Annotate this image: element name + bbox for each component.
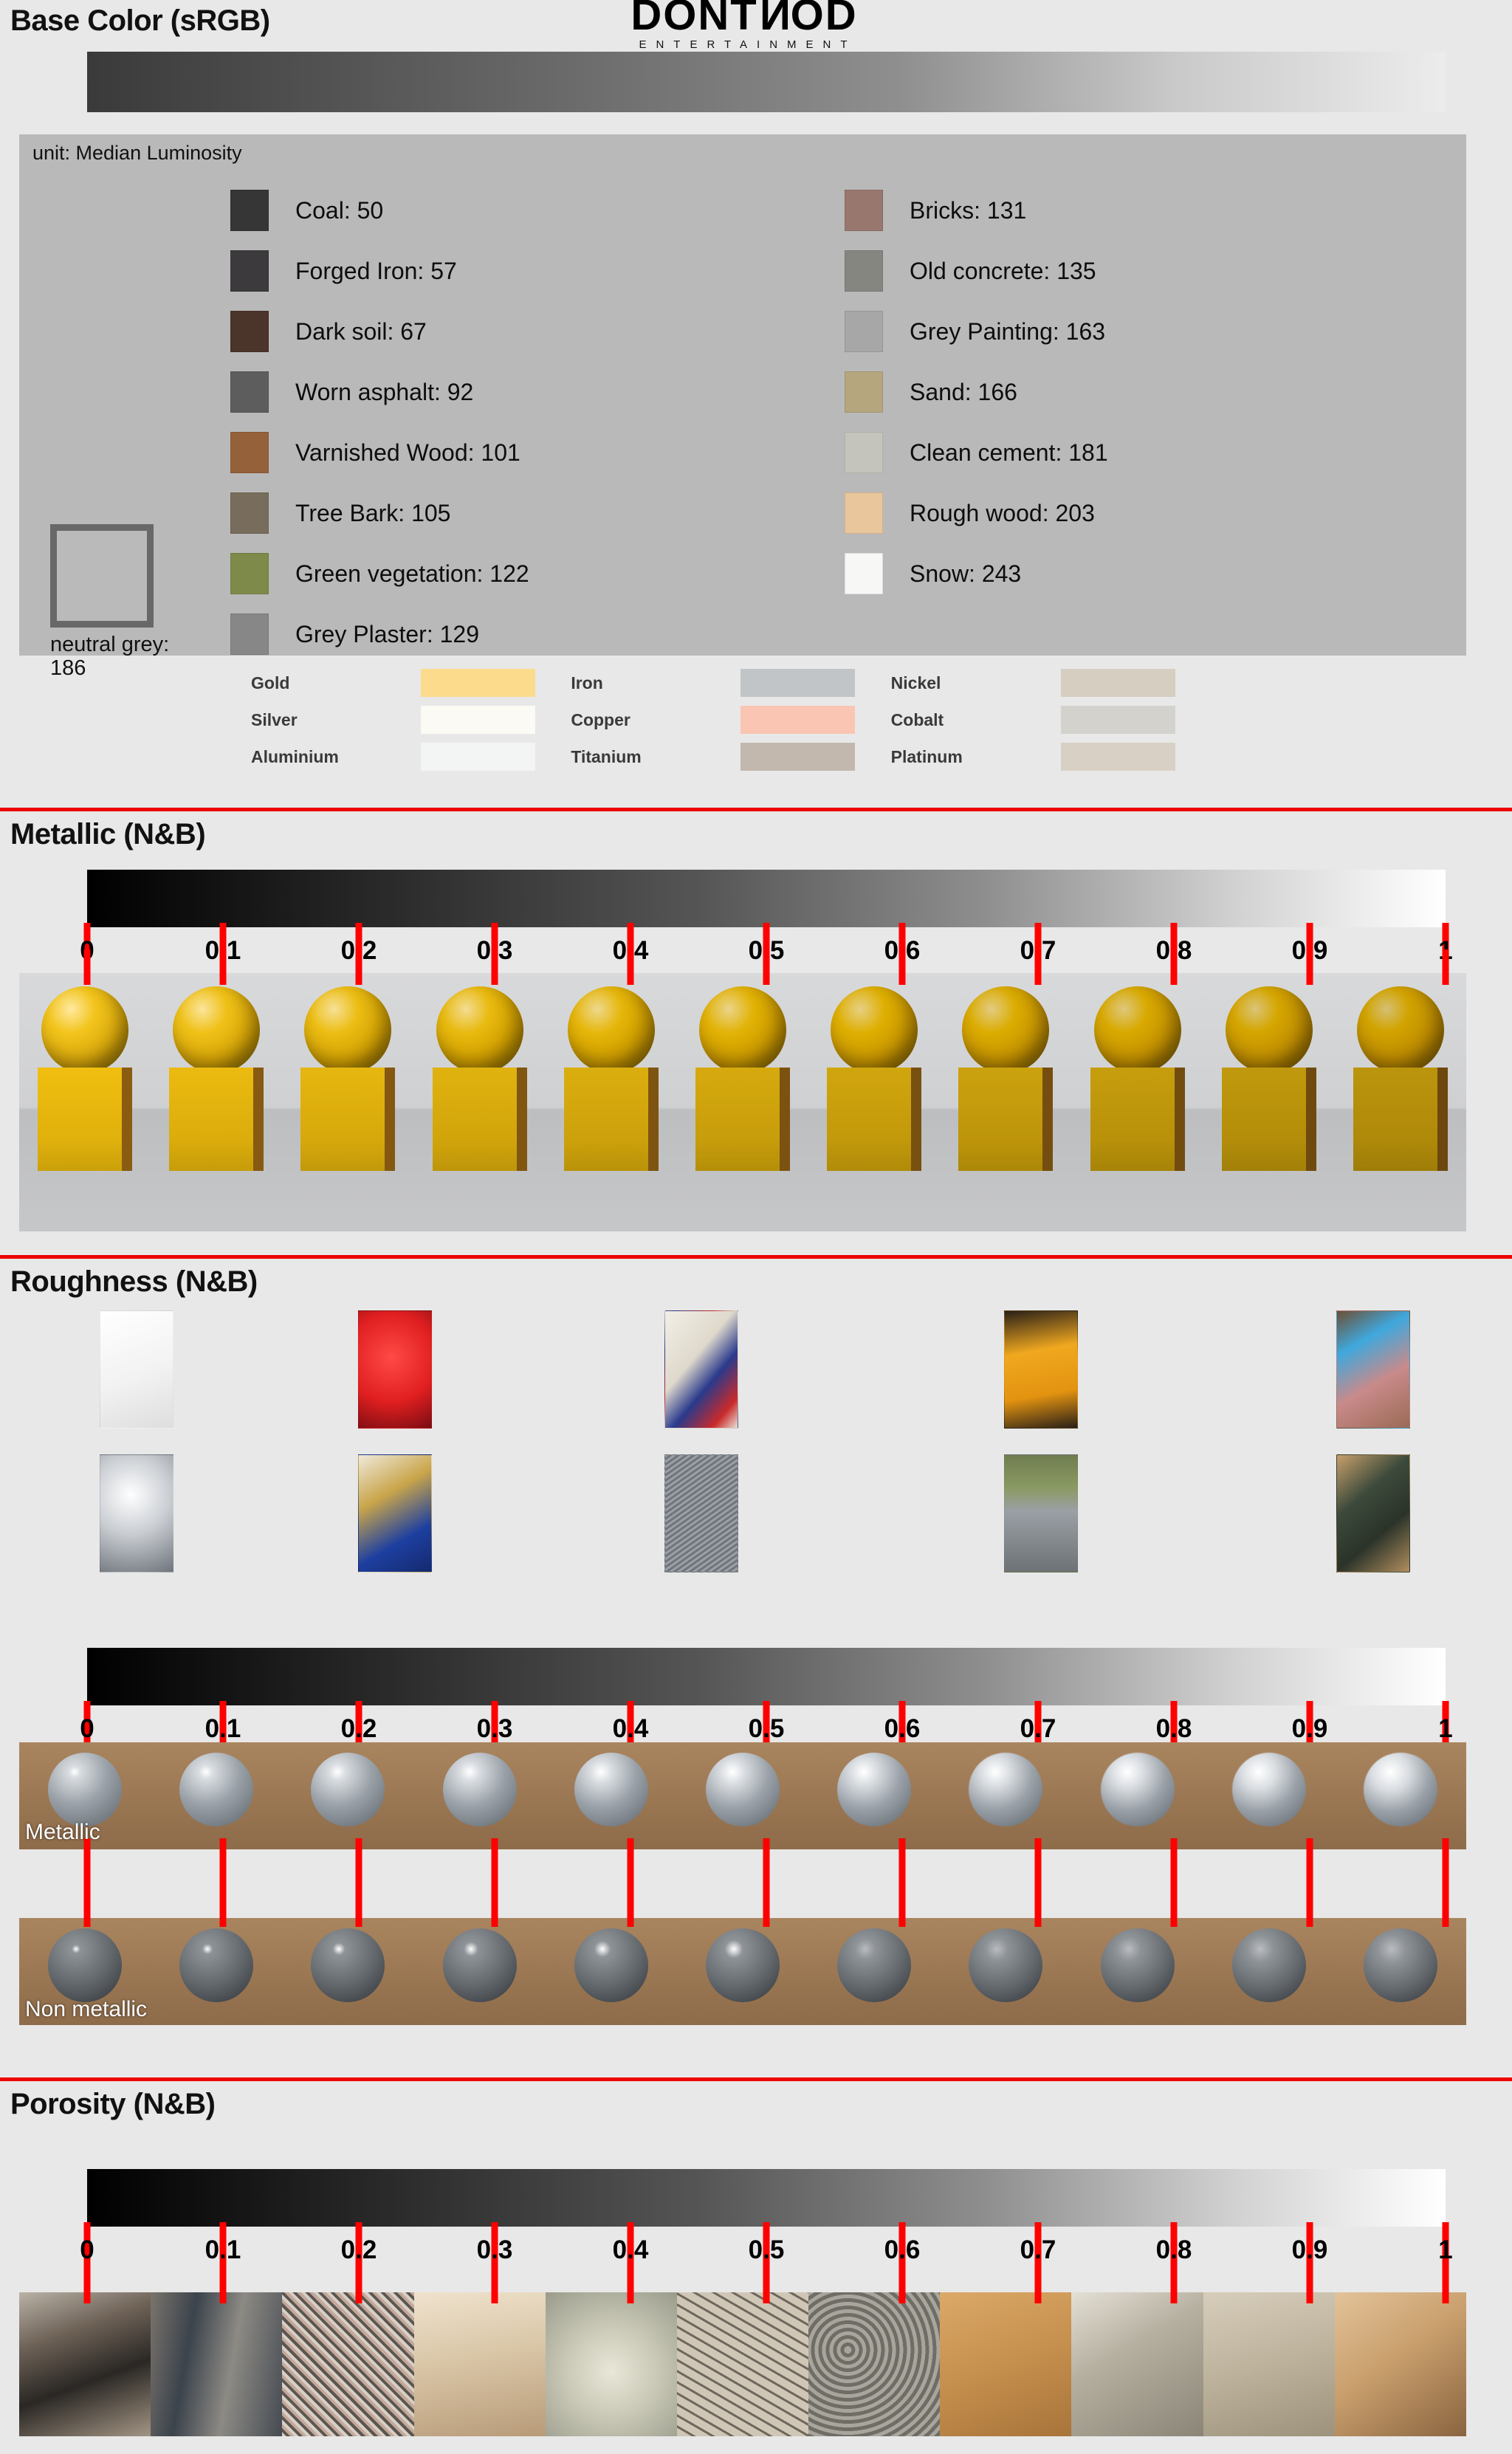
- metal-reference-table: GoldIronNickelSilverCopperCobaltAluminiu…: [251, 664, 1211, 775]
- base-color-label: Coal: 50: [295, 197, 383, 224]
- metallic-cube: [1222, 1068, 1316, 1171]
- unit-label: unit: Median Luminosity: [32, 142, 242, 165]
- base-color-swatch: [230, 250, 269, 292]
- metallic-render-tick-mark: [1307, 949, 1313, 985]
- metallic-sample-cell: [808, 973, 940, 1231]
- metallic-cube: [827, 1068, 921, 1171]
- metallic-render-tick-mark: [1443, 949, 1449, 985]
- roughness-row-tick-mark: [220, 1838, 227, 1927]
- base-color-swatch: [230, 613, 269, 655]
- metallic-render-tick-mark: [1171, 949, 1178, 985]
- base-color-row: Green vegetation: 122: [230, 543, 529, 604]
- metallic-sphere: [1094, 986, 1181, 1073]
- metallic-sphere: [41, 986, 128, 1073]
- metal-name: Copper: [571, 710, 740, 730]
- metal-entry: Platinum: [891, 738, 1211, 775]
- base-color-row: Dark soil: 67: [230, 301, 529, 362]
- base-color-swatch: [845, 250, 883, 292]
- porosity-gradient: [87, 2169, 1446, 2227]
- scale-tick-label: 1: [1438, 1714, 1452, 1744]
- base-color-label: Snow: 243: [910, 560, 1021, 588]
- metallic-render-tick-mark: [628, 949, 634, 985]
- roughness-nonmetallic-sphere: [706, 1928, 780, 2002]
- porosity-photo-cell: [151, 2292, 282, 2436]
- roughness-row-tick-mark: [628, 1838, 634, 1927]
- porosity-section-divider: [0, 2077, 1512, 2081]
- porosity-photo-strip: [19, 2292, 1466, 2436]
- metal-entry: Aluminium: [251, 738, 571, 775]
- metallic-sphere: [699, 986, 786, 1073]
- roughness-nonmetallic-sphere: [969, 1928, 1042, 2002]
- roughness-nonmetallic-sphere: [48, 1928, 122, 2002]
- metal-name: Platinum: [891, 747, 1061, 767]
- metal-swatch: [421, 669, 535, 697]
- metallic-cube: [169, 1068, 264, 1171]
- metal-swatch: [740, 743, 855, 771]
- base-color-row: Snow: 243: [845, 543, 1108, 604]
- porosity-photo-cell: [677, 2292, 808, 2436]
- base-color-swatch: [230, 492, 269, 534]
- base-color-swatch: [230, 432, 269, 473]
- base-color-row: Varnished Wood: 101: [230, 422, 529, 483]
- roughness-metallic-caption: Metallic: [25, 1820, 100, 1845]
- metallic-render-tick-mark: [356, 949, 362, 985]
- porosity-tick-mark: [220, 2259, 227, 2303]
- metallic-cube: [1353, 1068, 1448, 1171]
- roughness-row-tick-mark: [1035, 1838, 1042, 1927]
- dontnod-logo: DONTNOD ENTERTAINMENT: [611, 0, 877, 51]
- metal-name: Aluminium: [251, 747, 421, 767]
- base-color-row: Sand: 166: [845, 362, 1108, 422]
- metallic-sphere: [173, 986, 260, 1073]
- roughness-nonmetallic-sphere: [443, 1928, 517, 2002]
- roughness-nonmetallic-sphere: [837, 1928, 911, 2002]
- base-color-swatch: [230, 553, 269, 594]
- scale-tick-label: 0.1: [205, 1714, 241, 1744]
- base-color-label: Green vegetation: 122: [295, 560, 529, 588]
- metallic-render-tick-mark: [899, 949, 906, 985]
- roughness-row-tick-mark: [763, 1838, 770, 1927]
- porosity-photo-cell: [19, 2292, 151, 2436]
- roughness-reference-thumbnail: [1004, 1310, 1078, 1429]
- base-color-gradient-bar: [87, 52, 1446, 112]
- roughness-section-divider: [0, 1255, 1512, 1259]
- scale-tick-label: 0.8: [1156, 1714, 1192, 1744]
- base-color-label: Tree Bark: 105: [295, 500, 450, 527]
- metallic-sample-cell: [282, 973, 413, 1231]
- metallic-sample-cell: [677, 973, 808, 1231]
- roughness-gradient: [87, 1648, 1446, 1705]
- roughness-metallic-sphere: [706, 1753, 780, 1826]
- logo-part-prefix: DONT: [630, 0, 757, 39]
- base-color-swatch: [845, 311, 883, 352]
- roughness-row-tick-mark: [1171, 1838, 1178, 1927]
- metallic-section-title: Metallic (N&B): [10, 818, 205, 851]
- porosity-photo-cell: [808, 2292, 940, 2436]
- metal-swatch: [1061, 743, 1175, 771]
- neutral-grey-value: 186: [50, 656, 86, 680]
- metal-entry: Cobalt: [891, 701, 1211, 738]
- roughness-reference-thumbnail: [358, 1310, 432, 1429]
- roughness-nonmetallic-sphere: [1101, 1928, 1175, 2002]
- metallic-sample-cell: [1335, 973, 1466, 1231]
- porosity-photo-cell: [1203, 2292, 1335, 2436]
- metallic-cube: [1090, 1068, 1185, 1171]
- base-color-swatch: [230, 371, 269, 413]
- scale-tick-label: 0.3: [477, 1714, 513, 1744]
- roughness-nonmetallic-sphere: [1364, 1928, 1437, 2002]
- metal-name: Silver: [251, 710, 421, 730]
- roughness-reference-thumbnail: [358, 1454, 432, 1573]
- base-color-row: Bricks: 131: [845, 180, 1108, 241]
- metal-name: Gold: [251, 673, 421, 693]
- neutral-grey-label: neutral grey:: [50, 633, 169, 656]
- logo-tagline: ENTERTAINMENT: [619, 38, 877, 51]
- porosity-section-title: Porosity (N&B): [10, 2088, 215, 2121]
- metal-swatch: [1061, 706, 1175, 734]
- porosity-tick-mark: [763, 2259, 770, 2303]
- base-color-label: Worn asphalt: 92: [295, 379, 473, 406]
- metal-name: Iron: [571, 673, 740, 693]
- metallic-render-tick-mark: [1035, 949, 1042, 985]
- page-title: Base Color (sRGB): [10, 4, 270, 38]
- metallic-cube: [564, 1068, 659, 1171]
- porosity-tick-mark: [899, 2259, 906, 2303]
- roughness-metallic-sphere: [1364, 1753, 1437, 1826]
- roughness-reference-thumbnail: [664, 1310, 738, 1429]
- roughness-row-tick-mark: [1443, 1838, 1449, 1927]
- porosity-scale: 00.10.20.30.40.50.60.70.80.91: [87, 2169, 1446, 2272]
- base-color-row: Tree Bark: 105: [230, 483, 529, 543]
- base-color-row: Worn asphalt: 92: [230, 362, 529, 422]
- metallic-sphere: [436, 986, 523, 1073]
- scale-tick-label: 0: [80, 1714, 94, 1744]
- base-color-row: Grey Plaster: 129: [230, 604, 529, 664]
- roughness-reference-thumbnail: [100, 1454, 173, 1573]
- metal-entry: Gold: [251, 664, 571, 701]
- scale-tick-label: 0.5: [749, 1714, 785, 1744]
- metal-entry: Nickel: [891, 664, 1211, 701]
- metallic-section-divider: [0, 808, 1512, 811]
- metallic-sphere: [962, 986, 1049, 1073]
- logo-part-suffix: OD: [791, 0, 858, 39]
- metal-swatch: [421, 706, 535, 734]
- metal-swatch: [740, 669, 855, 697]
- roughness-reference-thumbnail: [100, 1310, 173, 1429]
- metal-swatch: [421, 743, 535, 771]
- roughness-row-tick-mark: [1307, 1838, 1313, 1927]
- roughness-reference-thumbnail: [1336, 1454, 1410, 1573]
- roughness-metallic-sphere: [1101, 1753, 1175, 1826]
- base-color-label: Grey Painting: 163: [910, 318, 1105, 346]
- base-color-label: Bricks: 131: [910, 197, 1026, 224]
- roughness-metallic-sphere: [443, 1753, 517, 1826]
- porosity-tick-mark: [1035, 2259, 1042, 2303]
- base-color-column-left: Coal: 50Forged Iron: 57Dark soil: 67Worn…: [230, 180, 529, 664]
- neutral-grey-reference: neutral grey: 186: [50, 524, 198, 681]
- metal-swatch: [740, 706, 855, 734]
- metallic-sample-cell: [19, 973, 151, 1231]
- base-color-swatch: [845, 432, 883, 473]
- base-color-swatch: [845, 190, 883, 231]
- scale-tick-label: 0.4: [613, 1714, 649, 1744]
- metal-entry: Copper: [571, 701, 890, 738]
- metallic-sphere: [1226, 986, 1313, 1073]
- roughness-row-tick-mark: [356, 1838, 362, 1927]
- metal-entry: Iron: [571, 664, 890, 701]
- roughness-scale: 00.10.20.30.40.50.60.70.80.91: [87, 1648, 1446, 1751]
- base-color-row: Rough wood: 203: [845, 483, 1108, 543]
- roughness-row-tick-mark: [84, 1838, 91, 1927]
- metallic-cube: [695, 1068, 790, 1171]
- roughness-nonmetallic-caption: Non metallic: [25, 1997, 147, 2022]
- roughness-section-title: Roughness (N&B): [10, 1265, 258, 1299]
- porosity-photo-cell: [282, 2292, 413, 2436]
- metallic-sample-cell: [1071, 973, 1203, 1231]
- roughness-metallic-sphere: [574, 1753, 648, 1826]
- base-color-label: Dark soil: 67: [295, 318, 427, 346]
- metallic-sample-cell: [151, 973, 282, 1231]
- base-color-column-right: Bricks: 131Old concrete: 135Grey Paintin…: [845, 180, 1108, 604]
- roughness-reference-thumbnail: [1004, 1454, 1078, 1573]
- base-color-label: Old concrete: 135: [910, 258, 1096, 285]
- metallic-gradient: [87, 870, 1446, 927]
- roughness-metallic-sphere: [179, 1753, 253, 1826]
- neutral-grey-caption: neutral grey: 186: [50, 633, 176, 681]
- roughness-nonmetallic-render-row: Non metallic: [19, 1918, 1466, 2025]
- base-color-swatch: [845, 371, 883, 413]
- roughness-metallic-sphere: [969, 1753, 1042, 1826]
- roughness-reference-thumbnail: [664, 1454, 738, 1573]
- porosity-photo-cell: [414, 2292, 546, 2436]
- roughness-metallic-sphere: [48, 1753, 122, 1826]
- metallic-sample-cell: [1203, 973, 1335, 1231]
- metallic-sphere: [831, 986, 918, 1073]
- metal-name: Cobalt: [891, 710, 1061, 730]
- base-color-row: Old concrete: 135: [845, 241, 1108, 301]
- porosity-tick-mark: [356, 2259, 362, 2303]
- base-color-label: Sand: 166: [910, 379, 1017, 406]
- metal-entry: Titanium: [571, 738, 890, 775]
- scale-tick-label: 0.6: [884, 1714, 921, 1744]
- logo-wordmark: DONTNOD: [611, 0, 877, 37]
- porosity-tick-mark: [84, 2259, 91, 2303]
- porosity-tick-mark: [1443, 2259, 1449, 2303]
- metallic-sample-cell: [414, 973, 546, 1231]
- base-color-label: Clean cement: 181: [910, 439, 1108, 467]
- metallic-render-tick-mark: [763, 949, 770, 985]
- base-color-label: Forged Iron: 57: [295, 258, 457, 285]
- base-color-row: Clean cement: 181: [845, 422, 1108, 483]
- neutral-grey-swatch: [50, 524, 154, 628]
- metal-name: Titanium: [571, 747, 740, 767]
- roughness-nonmetallic-sphere: [311, 1928, 385, 2002]
- roughness-reference-thumbnail: [1336, 1310, 1410, 1429]
- porosity-photo-cell: [546, 2292, 677, 2436]
- base-color-label: Rough wood: 203: [910, 500, 1095, 527]
- metallic-cube: [38, 1068, 132, 1171]
- logo-part-flipped-n: N: [758, 0, 791, 37]
- porosity-photo-cell: [940, 2292, 1071, 2436]
- metallic-render-tick-mark: [220, 949, 227, 985]
- base-color-row: Grey Painting: 163: [845, 301, 1108, 362]
- metallic-cube: [958, 1068, 1053, 1171]
- porosity-photo-cell: [1071, 2292, 1203, 2436]
- roughness-metallic-render-row: Metallic: [19, 1742, 1466, 1849]
- base-color-swatch: [230, 311, 269, 352]
- base-color-row: Coal: 50: [230, 180, 529, 241]
- porosity-tick-mark: [1171, 2259, 1178, 2303]
- metallic-render-strip: [19, 973, 1466, 1231]
- roughness-nonmetallic-sphere: [574, 1928, 648, 2002]
- roughness-metallic-sphere: [837, 1753, 911, 1826]
- roughness-row-tick-mark: [492, 1838, 498, 1927]
- scale-tick-label: 0.7: [1020, 1714, 1056, 1744]
- base-color-row: Forged Iron: 57: [230, 241, 529, 301]
- roughness-nonmetallic-sphere: [179, 1928, 253, 2002]
- porosity-tick-mark: [628, 2259, 634, 2303]
- base-color-label: Grey Plaster: 129: [295, 621, 479, 648]
- page-header: Base Color (sRGB) DONTNOD ENTERTAINMENT: [0, 0, 1512, 53]
- base-color-swatch: [845, 492, 883, 534]
- roughness-nonmetallic-sphere: [1232, 1928, 1306, 2002]
- metallic-render-tick-mark: [492, 949, 498, 985]
- base-color-label: Varnished Wood: 101: [295, 439, 520, 467]
- metallic-sample-cell: [940, 973, 1071, 1231]
- roughness-reference-thumbnails: [0, 1310, 1512, 1584]
- metallic-sphere: [304, 986, 391, 1073]
- metallic-sample-cell: [546, 973, 677, 1231]
- porosity-photo-cell: [1335, 2292, 1466, 2436]
- roughness-metallic-sphere: [1232, 1753, 1306, 1826]
- roughness-metallic-sphere: [311, 1753, 385, 1826]
- metallic-cube: [433, 1068, 527, 1171]
- metallic-cube: [300, 1068, 395, 1171]
- metallic-render-tick-mark: [84, 949, 91, 985]
- metal-entry: Silver: [251, 701, 571, 738]
- metal-swatch: [1061, 669, 1175, 697]
- roughness-row-tick-mark: [899, 1838, 906, 1927]
- metallic-sphere: [568, 986, 655, 1073]
- scale-tick-label: 0.9: [1292, 1714, 1328, 1744]
- scale-tick-label: 0.2: [341, 1714, 377, 1744]
- base-color-swatch: [230, 190, 269, 231]
- metallic-sphere: [1357, 986, 1444, 1073]
- base-color-swatch: [845, 553, 883, 594]
- porosity-tick-mark: [492, 2259, 498, 2303]
- base-color-legend-panel: unit: Median Luminosity neutral grey: 18…: [19, 134, 1466, 656]
- metal-name: Nickel: [891, 673, 1061, 693]
- porosity-tick-mark: [1307, 2259, 1313, 2303]
